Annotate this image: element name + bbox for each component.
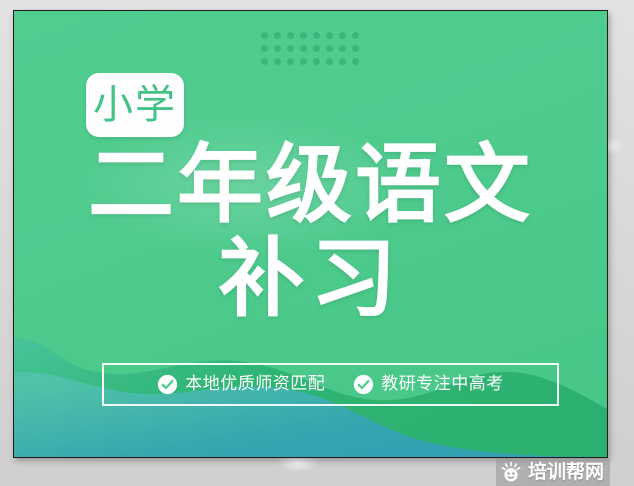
- grid-dot: [339, 58, 346, 65]
- grid-dot: [326, 32, 333, 39]
- watermark-label: 培训帮网: [528, 463, 604, 482]
- grid-dot: [339, 32, 346, 39]
- grid-dot: [287, 32, 294, 39]
- poster-headline: 二年级语文 补习: [14, 142, 607, 324]
- grid-dot: [326, 45, 333, 52]
- grid-dot: [300, 32, 307, 39]
- course-poster-card: 小学 二年级语文 补习 本地优质师资匹配 教研专注中高考: [13, 10, 608, 458]
- grid-dot: [274, 45, 281, 52]
- grid-dot: [313, 32, 320, 39]
- grid-dot: [287, 45, 294, 52]
- feature-label-2: 教研专注中高考: [381, 376, 504, 393]
- check-circle-icon: [157, 374, 178, 395]
- headline-line-2: 补习: [14, 234, 607, 324]
- grid-dot: [287, 58, 294, 65]
- grid-dot: [326, 58, 333, 65]
- grid-dot: [352, 58, 359, 65]
- level-badge-label: 小学: [93, 85, 177, 125]
- grid-dot: [313, 45, 320, 52]
- headline-line-1: 二年级语文: [14, 142, 607, 230]
- dot-grid-decoration: [261, 32, 365, 71]
- check-circle-icon: [353, 374, 374, 395]
- grid-dot: [274, 32, 281, 39]
- grid-dot: [261, 45, 268, 52]
- grid-dot: [313, 58, 320, 65]
- grid-dot: [261, 32, 268, 39]
- level-badge: 小学: [86, 73, 184, 137]
- grid-dot: [261, 58, 268, 65]
- sun-face-icon: [500, 461, 522, 483]
- feature-highlight-box: 本地优质师资匹配 教研专注中高考: [102, 363, 559, 406]
- grid-dot: [352, 45, 359, 52]
- page-background: 小学 二年级语文 补习 本地优质师资匹配 教研专注中高考: [0, 0, 634, 486]
- site-watermark: 培训帮网: [496, 458, 610, 486]
- grid-dot: [300, 58, 307, 65]
- feature-label-1: 本地优质师资匹配: [185, 376, 325, 393]
- grid-dot: [274, 58, 281, 65]
- feature-item-1: 本地优质师资匹配: [157, 374, 325, 395]
- grid-dot: [300, 45, 307, 52]
- feature-item-2: 教研专注中高考: [353, 374, 504, 395]
- grid-dot: [339, 45, 346, 52]
- grid-dot: [352, 32, 359, 39]
